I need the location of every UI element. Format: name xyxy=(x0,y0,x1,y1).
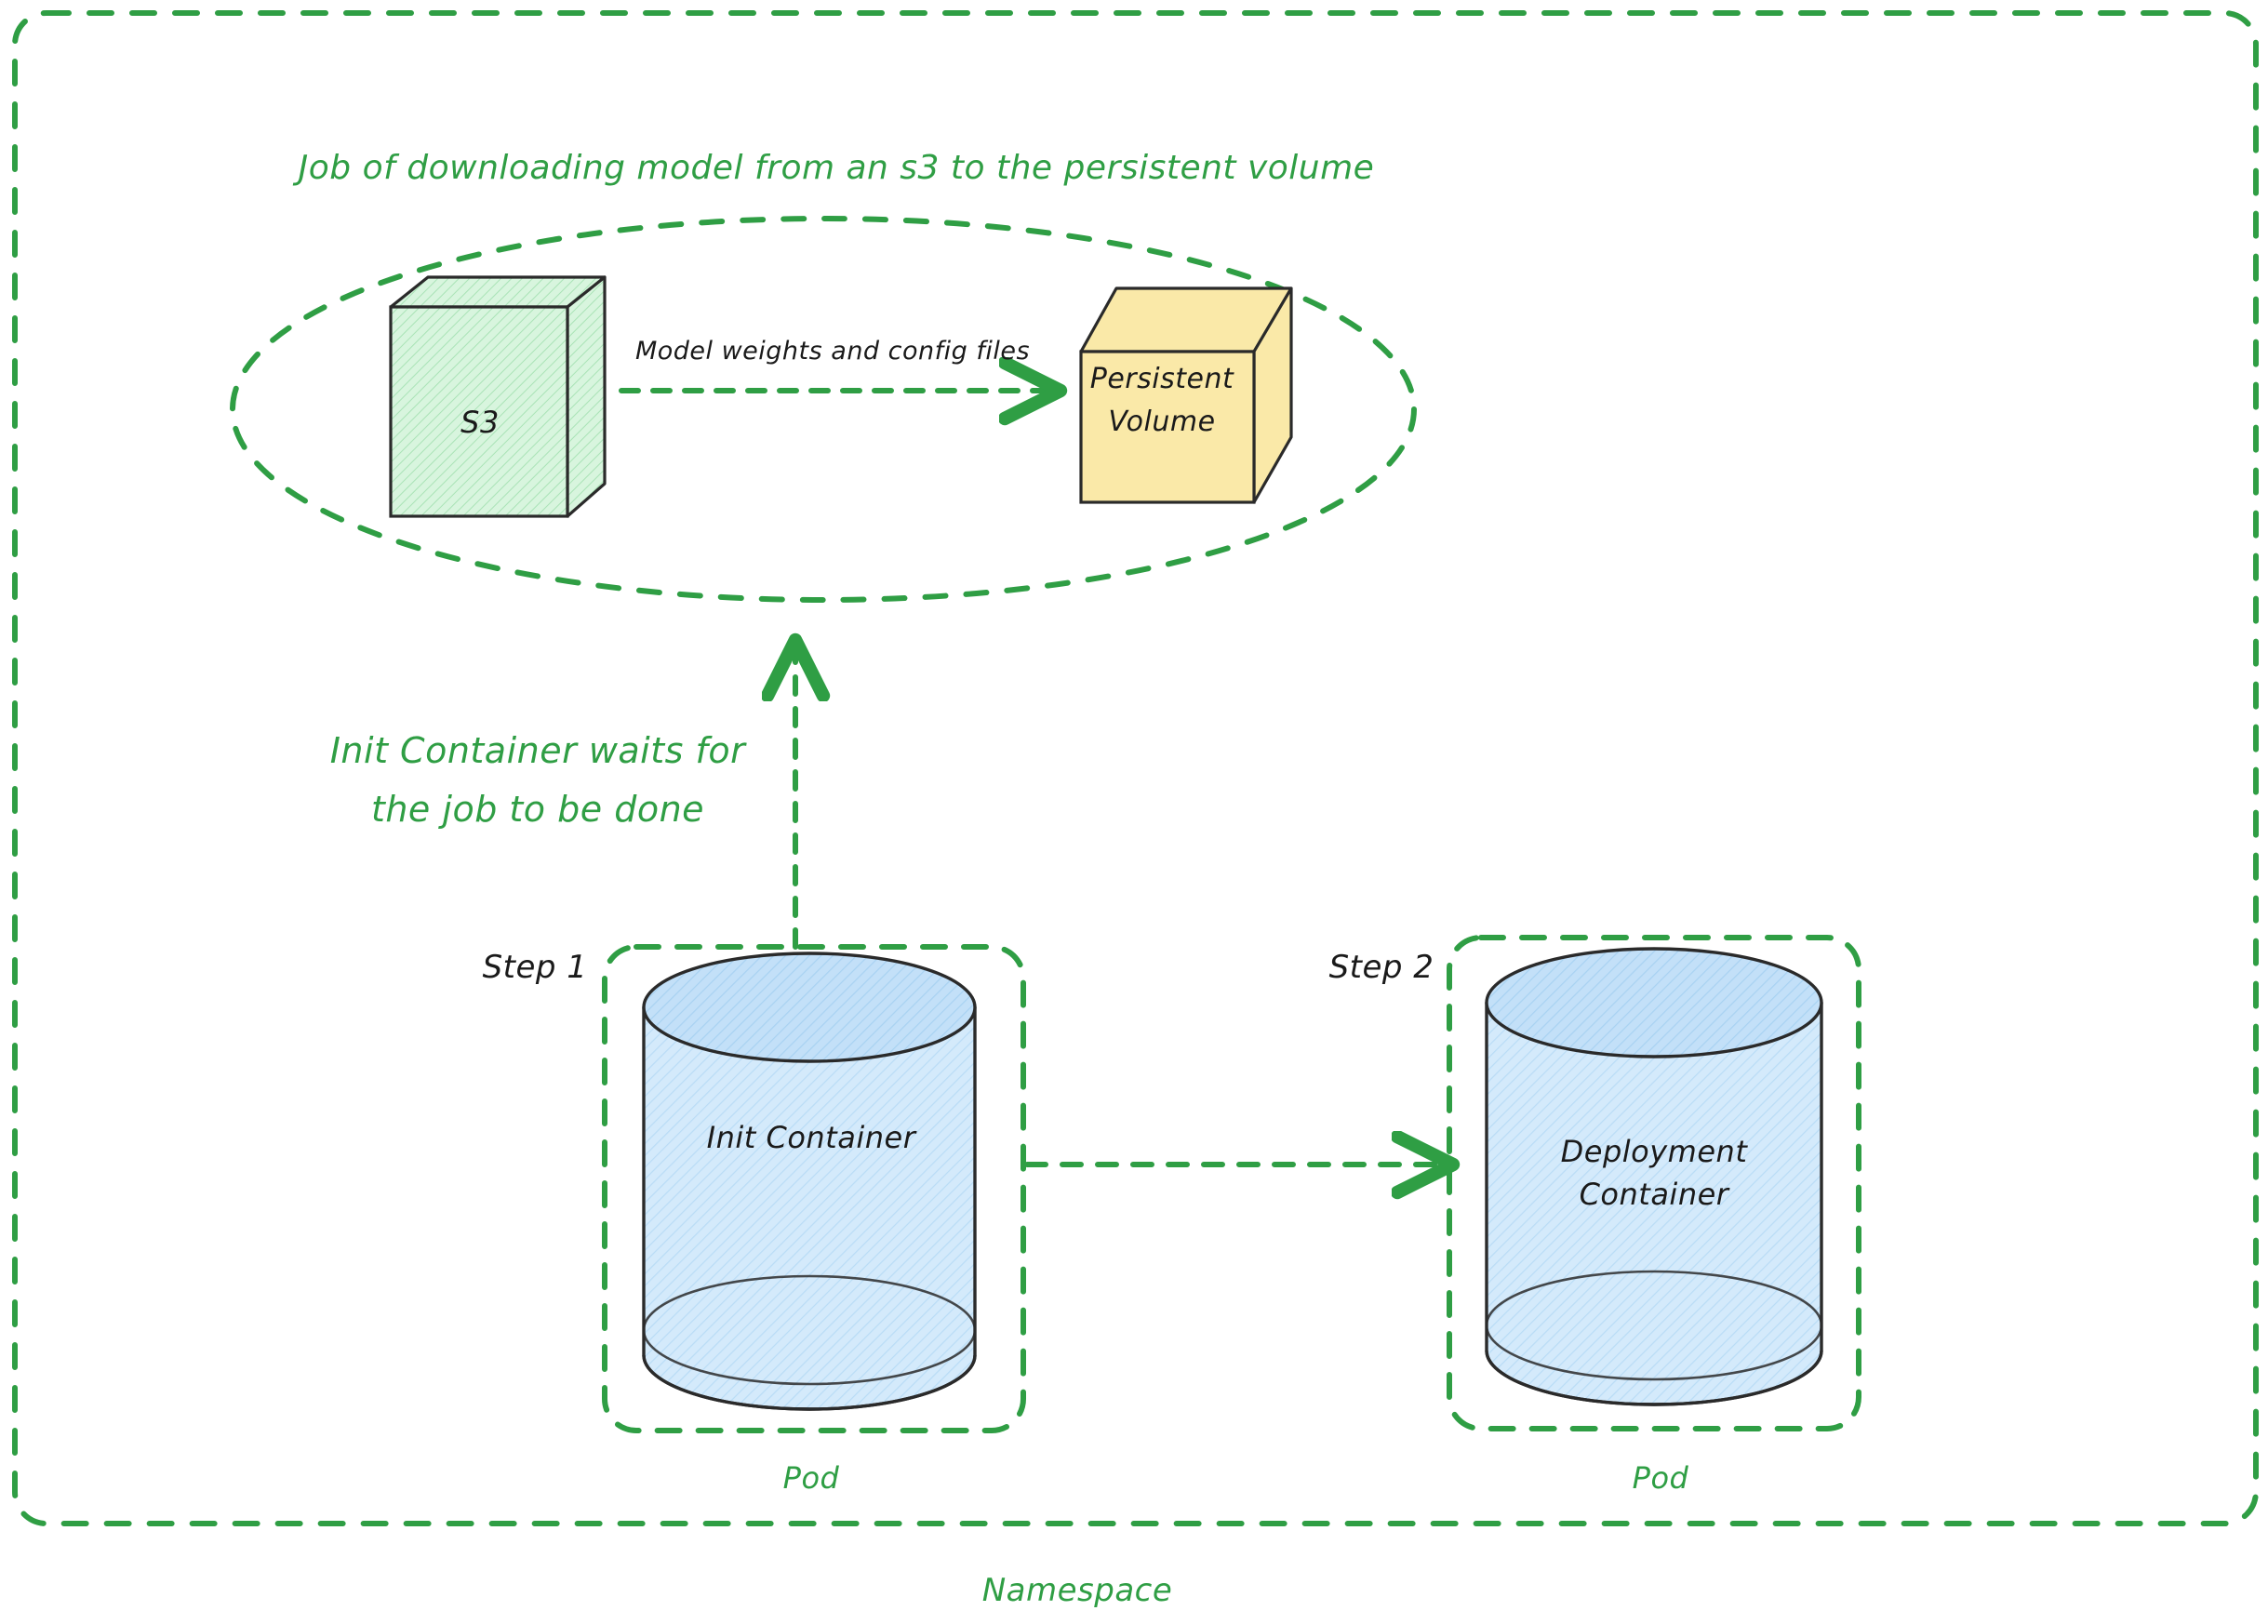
persistent-volume-label-line2: Volume xyxy=(1108,406,1215,438)
deployment-container-label-line1: Deployment xyxy=(1561,1134,1748,1169)
init-wait-note-line2: the job to be done xyxy=(371,789,704,830)
namespace-label: Namespace xyxy=(982,1572,1173,1609)
persistent-volume-label-line1: Persistent xyxy=(1090,363,1234,395)
diagram-graphics xyxy=(0,0,2268,1624)
step-label-2: Step 2 xyxy=(1329,949,1434,986)
init-container-cylinder xyxy=(644,953,975,1409)
persistent-volume-cube xyxy=(1081,288,1291,502)
s3-cube-label: S3 xyxy=(460,405,500,440)
init-wait-note-line1: Init Container waits for xyxy=(330,730,746,771)
s3-cube xyxy=(391,277,605,516)
edge-label-model-weights: Model weights and config files xyxy=(635,337,1030,366)
pod-label-2: Pod xyxy=(1633,1460,1689,1496)
deployment-container-label-line2: Container xyxy=(1580,1177,1729,1212)
job-group-caption: Job of downloading model from an s3 to t… xyxy=(299,149,1375,187)
init-container-label: Init Container xyxy=(707,1120,916,1155)
step-label-1: Step 1 xyxy=(483,949,588,986)
diagram-canvas: Job of downloading model from an s3 to t… xyxy=(0,0,2268,1624)
pod-label-1: Pod xyxy=(783,1460,840,1496)
